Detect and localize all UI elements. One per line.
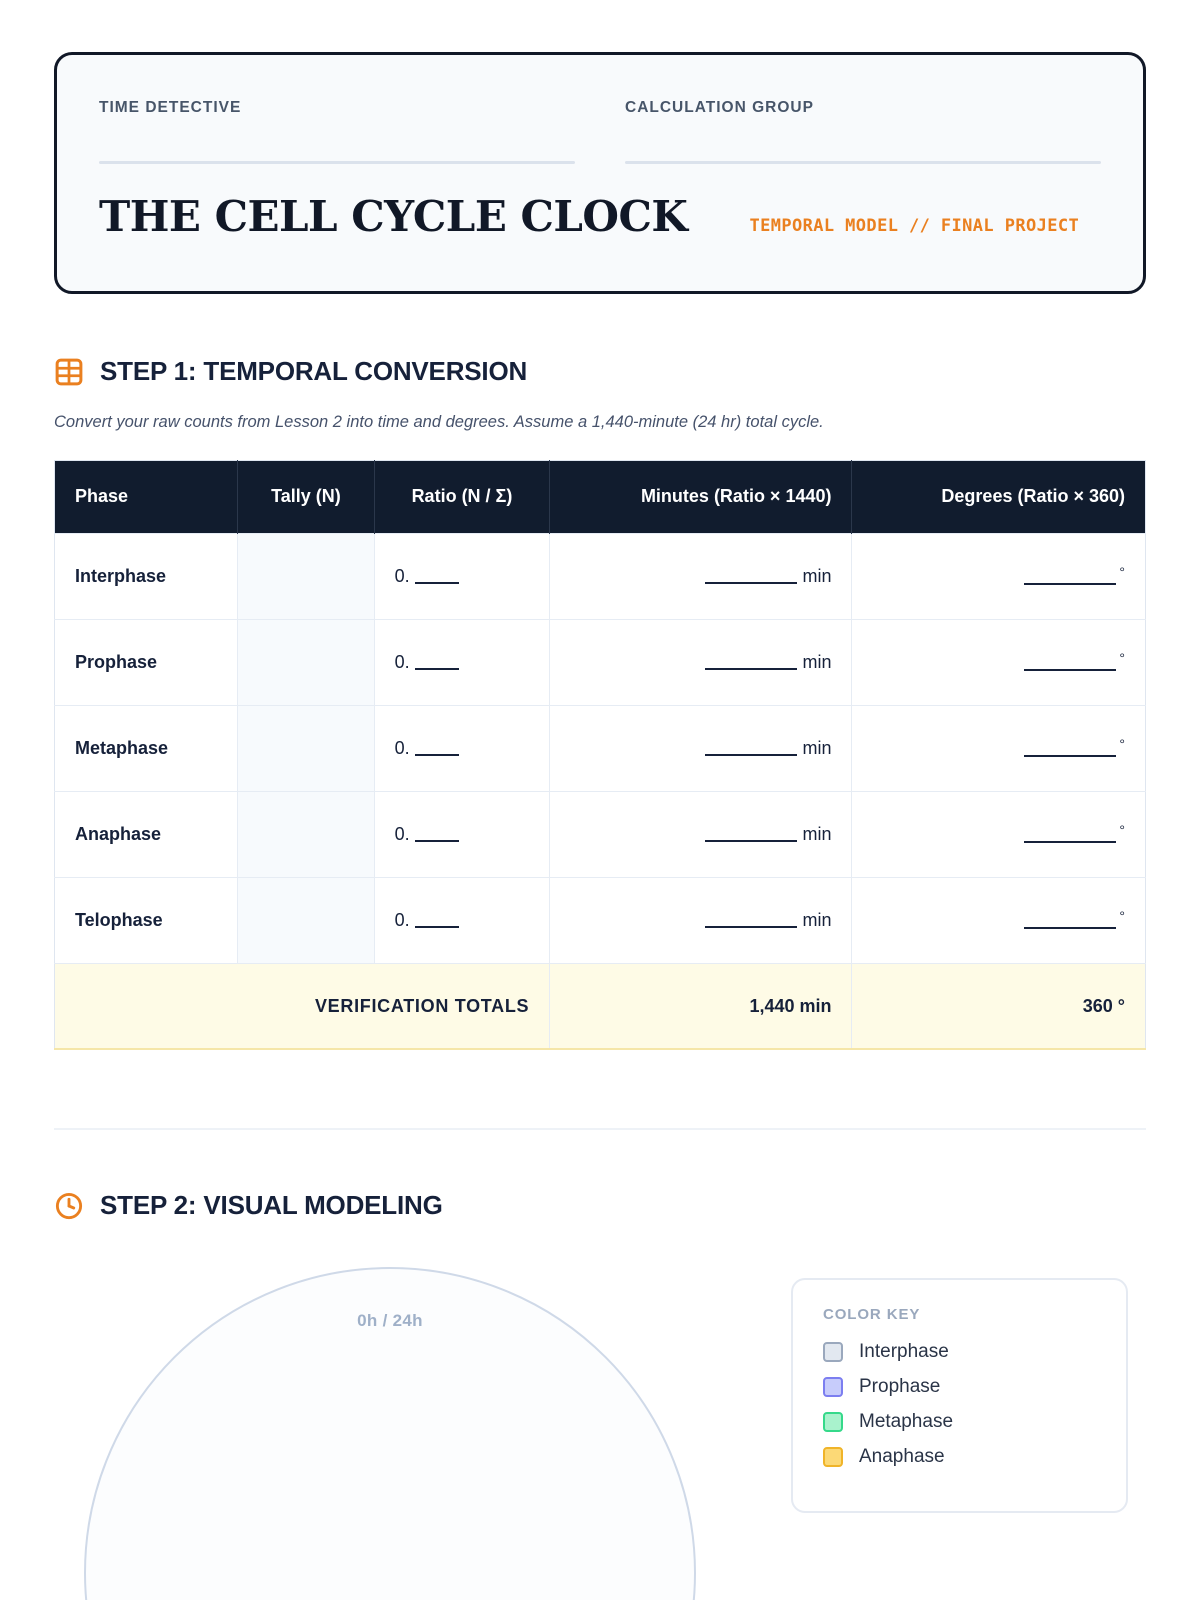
legend-label-anaphase: Anaphase [859, 1446, 945, 1468]
step2-content: 0h / 24h COLOR KEY Interphase Prophase M… [54, 1255, 1146, 1595]
table-header: Phase Tally (N) Ratio (N / Σ) Minutes (R… [55, 461, 1146, 534]
cell-degrees-anaphase[interactable]: ° [852, 791, 1146, 877]
minutes-unit: min [802, 738, 831, 758]
cell-degrees-interphase[interactable]: ° [852, 533, 1146, 619]
minutes-unit: min [802, 652, 831, 672]
degrees-blank[interactable] [1024, 755, 1116, 757]
header-fields: TIME DETECTIVE CALCULATION GROUP [99, 99, 1101, 164]
ratio-blank[interactable] [415, 582, 459, 584]
verification-totals-row: VERIFICATION TOTALS 1,440 min 360 ° [55, 963, 1146, 1049]
cell-minutes-anaphase[interactable]: min [550, 791, 852, 877]
totals-minutes: 1,440 min [550, 963, 852, 1049]
cell-ratio-anaphase[interactable]: 0. [374, 791, 550, 877]
write-in-rule-calculation-group[interactable] [625, 161, 1101, 164]
minutes-unit: min [802, 566, 831, 586]
col-header-ratio: Ratio (N / Σ) [374, 461, 550, 534]
table-row: Metaphase 0. min ° [55, 705, 1146, 791]
ratio-prefix: 0. [395, 910, 410, 930]
cell-ratio-prophase[interactable]: 0. [374, 619, 550, 705]
degrees-unit: ° [1119, 908, 1125, 924]
minutes-blank[interactable] [705, 668, 797, 670]
field-label-time-detective: TIME DETECTIVE [99, 99, 575, 117]
cell-phase-anaphase: Anaphase [55, 791, 238, 877]
field-calculation-group: CALCULATION GROUP [625, 99, 1101, 164]
cell-ratio-interphase[interactable]: 0. [374, 533, 550, 619]
legend-item-metaphase: Metaphase [823, 1411, 1096, 1433]
step1-title: STEP 1: TEMPORAL CONVERSION [100, 356, 527, 387]
cell-tally-telophase[interactable] [238, 877, 374, 963]
col-header-degrees: Degrees (Ratio × 360) [852, 461, 1146, 534]
totals-label: VERIFICATION TOTALS [55, 963, 550, 1049]
table-row: Interphase 0. min ° [55, 533, 1146, 619]
legend-label-interphase: Interphase [859, 1341, 949, 1363]
degrees-unit: ° [1119, 650, 1125, 666]
page-title: THE CELL CYCLE CLOCK [99, 192, 687, 241]
minutes-blank[interactable] [705, 582, 797, 584]
cell-phase-prophase: Prophase [55, 619, 238, 705]
degrees-unit: ° [1119, 564, 1125, 580]
table-body: Interphase 0. min ° Prophase 0. min ° Me… [55, 533, 1146, 1049]
write-in-rule-time-detective[interactable] [99, 161, 575, 164]
step1-subtitle: Convert your raw counts from Lesson 2 in… [54, 413, 1146, 432]
degrees-blank[interactable] [1024, 841, 1116, 843]
ratio-prefix: 0. [395, 824, 410, 844]
field-time-detective: TIME DETECTIVE [99, 99, 575, 164]
header-card: TIME DETECTIVE CALCULATION GROUP THE CEL… [54, 52, 1146, 294]
cell-tally-interphase[interactable] [238, 533, 374, 619]
table-grid-icon [54, 357, 84, 387]
minutes-blank[interactable] [705, 754, 797, 756]
cell-tally-anaphase[interactable] [238, 791, 374, 877]
minutes-blank[interactable] [705, 840, 797, 842]
minutes-blank[interactable] [705, 926, 797, 928]
table-header-row: Phase Tally (N) Ratio (N / Σ) Minutes (R… [55, 461, 1146, 534]
ratio-blank[interactable] [415, 668, 459, 670]
legend-label-metaphase: Metaphase [859, 1411, 953, 1433]
ratio-blank[interactable] [415, 840, 459, 842]
cell-minutes-interphase[interactable]: min [550, 533, 852, 619]
legend-item-anaphase: Anaphase [823, 1446, 1096, 1468]
ratio-prefix: 0. [395, 566, 410, 586]
header-title-row: THE CELL CYCLE CLOCK TEMPORAL MODEL // F… [99, 192, 1101, 241]
header-tagline: TEMPORAL MODEL // FINAL PROJECT [749, 216, 1079, 236]
conversion-table-wrapper: Phase Tally (N) Ratio (N / Σ) Minutes (R… [54, 460, 1146, 1050]
step2-title: STEP 2: VISUAL MODELING [100, 1190, 443, 1221]
ratio-blank[interactable] [415, 754, 459, 756]
cell-ratio-telophase[interactable]: 0. [374, 877, 550, 963]
degrees-unit: ° [1119, 822, 1125, 838]
table-row: Anaphase 0. min ° [55, 791, 1146, 877]
minutes-unit: min [802, 824, 831, 844]
color-key-panel: COLOR KEY Interphase Prophase Metaphase … [791, 1278, 1128, 1513]
col-header-phase: Phase [55, 461, 238, 534]
table-row: Prophase 0. min ° [55, 619, 1146, 705]
conversion-table: Phase Tally (N) Ratio (N / Σ) Minutes (R… [54, 460, 1146, 1050]
cell-minutes-prophase[interactable]: min [550, 619, 852, 705]
cell-cycle-clock-dial[interactable]: 0h / 24h [84, 1267, 696, 1600]
degrees-blank[interactable] [1024, 583, 1116, 585]
cell-degrees-telophase[interactable]: ° [852, 877, 1146, 963]
step2-heading-row: STEP 2: VISUAL MODELING [54, 1190, 1146, 1221]
totals-degrees: 360 ° [852, 963, 1146, 1049]
cell-degrees-metaphase[interactable]: ° [852, 705, 1146, 791]
degrees-blank[interactable] [1024, 927, 1116, 929]
cell-phase-metaphase: Metaphase [55, 705, 238, 791]
minutes-unit: min [802, 910, 831, 930]
worksheet-page: TIME DETECTIVE CALCULATION GROUP THE CEL… [0, 52, 1200, 1600]
cell-tally-metaphase[interactable] [238, 705, 374, 791]
color-key-title: COLOR KEY [823, 1306, 1096, 1323]
cell-ratio-metaphase[interactable]: 0. [374, 705, 550, 791]
cell-minutes-telophase[interactable]: min [550, 877, 852, 963]
degrees-unit: ° [1119, 736, 1125, 752]
cell-degrees-prophase[interactable]: ° [852, 619, 1146, 705]
cell-phase-telophase: Telophase [55, 877, 238, 963]
ratio-prefix: 0. [395, 652, 410, 672]
step1-heading-row: STEP 1: TEMPORAL CONVERSION [54, 356, 1146, 387]
section-divider [54, 1128, 1146, 1130]
ratio-prefix: 0. [395, 738, 410, 758]
swatch-interphase [823, 1342, 843, 1362]
ratio-blank[interactable] [415, 926, 459, 928]
cell-phase-interphase: Interphase [55, 533, 238, 619]
swatch-prophase [823, 1377, 843, 1397]
swatch-metaphase [823, 1412, 843, 1432]
table-row: Telophase 0. min ° [55, 877, 1146, 963]
col-header-minutes: Minutes (Ratio × 1440) [550, 461, 852, 534]
degrees-blank[interactable] [1024, 669, 1116, 671]
clock-top-label: 0h / 24h [86, 1311, 694, 1331]
swatch-anaphase [823, 1447, 843, 1467]
cell-minutes-metaphase[interactable]: min [550, 705, 852, 791]
field-label-calculation-group: CALCULATION GROUP [625, 99, 1101, 117]
col-header-tally: Tally (N) [238, 461, 374, 534]
legend-label-prophase: Prophase [859, 1376, 940, 1398]
legend-item-interphase: Interphase [823, 1341, 1096, 1363]
cell-tally-prophase[interactable] [238, 619, 374, 705]
legend-item-prophase: Prophase [823, 1376, 1096, 1398]
clock-icon [54, 1191, 84, 1221]
